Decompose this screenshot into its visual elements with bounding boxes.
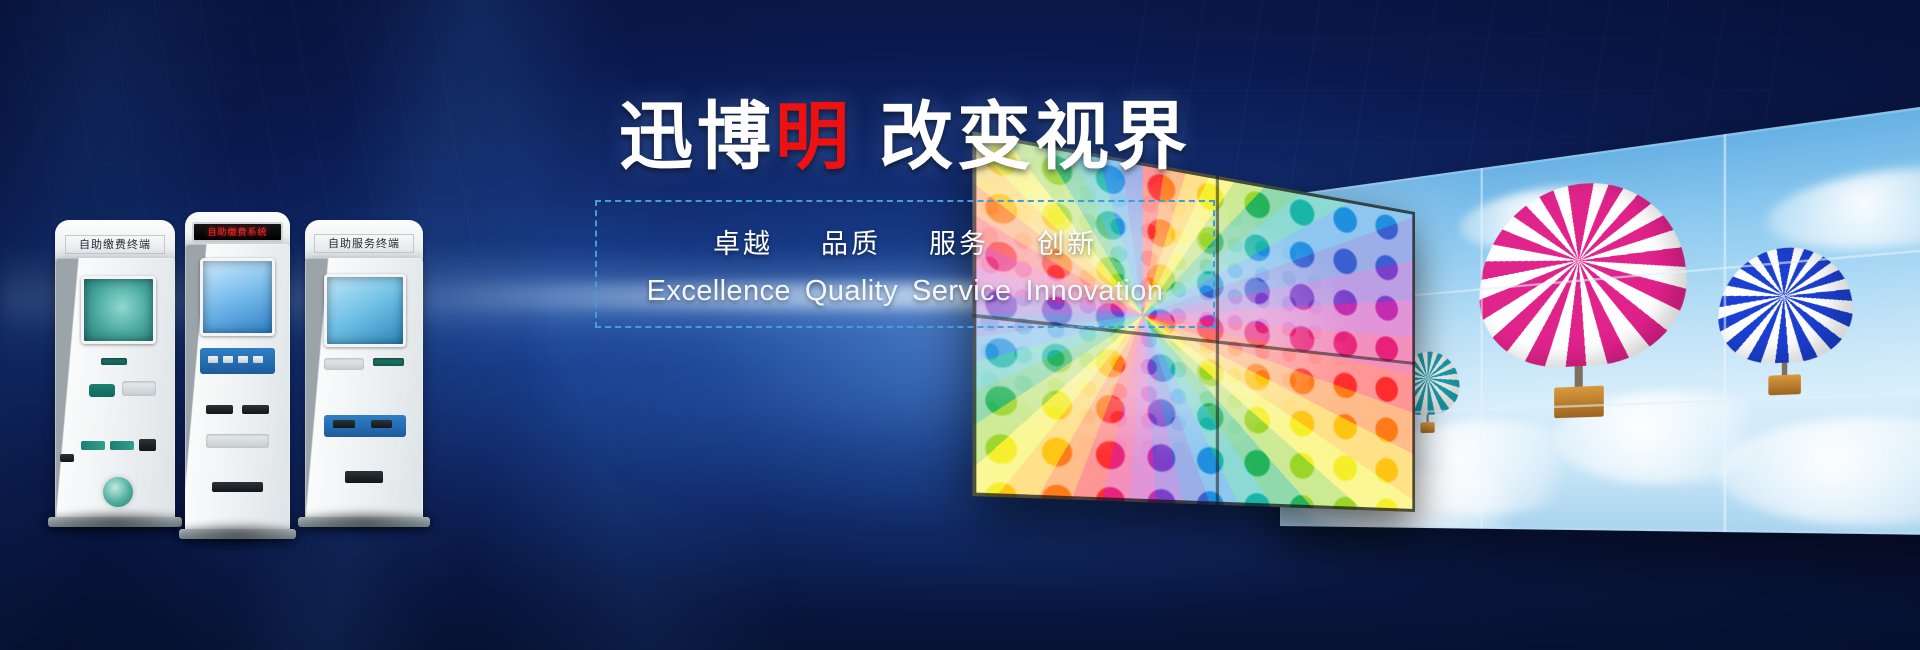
kiosk-2-bill-slot[interactable] — [206, 405, 233, 414]
headline-part-3: 改变视界 — [879, 94, 1191, 180]
kiosk-2-coin-slot[interactable] — [242, 405, 269, 414]
kiosk-2-screen[interactable] — [200, 258, 276, 336]
kiosk-2-button-row[interactable] — [208, 356, 263, 363]
slogan-cn-4: 创新 — [1037, 222, 1097, 261]
kiosk-3-card-slot[interactable] — [373, 358, 404, 366]
kiosk-1-logo — [103, 477, 133, 507]
kiosk-2-lower-vent — [212, 482, 262, 492]
banner-text-block: 迅博明改变视界 卓越 品质 服务 创新 Excellence Quality S… — [595, 100, 1215, 328]
slogan-en-3: Service — [912, 275, 1012, 308]
slogan-en-1: Excellence — [647, 275, 791, 308]
kiosk-3-dispenser[interactable] — [345, 471, 383, 483]
kiosk-1-body — [55, 258, 175, 520]
slogan-en-4: Innovation — [1025, 275, 1163, 308]
kiosk-1-card-slot[interactable] — [101, 358, 127, 365]
kiosk-3-coin-slot[interactable] — [371, 420, 392, 428]
kiosk-1-shadow — [38, 508, 192, 536]
kiosk-2-tray[interactable] — [206, 434, 269, 448]
kiosk-1-bill-slot[interactable] — [139, 439, 156, 451]
kiosk-3-shadow — [288, 508, 439, 536]
kiosk-2-label: 自助缴费系统 — [192, 222, 282, 243]
slogan-cn-3: 服务 — [929, 222, 989, 261]
kiosk-1-stripe-2 — [110, 441, 134, 450]
headline-highlight: 明 — [775, 94, 853, 180]
kiosk-1-nfc-pad[interactable] — [89, 384, 115, 397]
kiosk-3-body — [305, 258, 423, 520]
slogan-en-row: Excellence Quality Service Innovation — [607, 275, 1203, 308]
kiosk-3: 自助服务终端 — [305, 220, 423, 520]
kiosk-1-side-vent — [60, 454, 74, 462]
kiosk-1-stripe-1 — [81, 441, 105, 450]
headline-part-1: 迅博 — [619, 94, 775, 180]
kiosk-2-shadow — [170, 520, 304, 548]
kiosk-3-label: 自助服务终端 — [314, 234, 413, 252]
kiosk-3-bill-slot[interactable] — [333, 420, 354, 428]
kiosk-group: 自助缴费终端 自助缴费系统 — [0, 0, 520, 650]
slogan-box: 卓越 品质 服务 创新 Excellence Quality Service I… — [595, 200, 1215, 328]
kiosk-1-label: 自助缴费终端 — [65, 235, 166, 254]
slogan-cn-row: 卓越 品质 服务 创新 — [607, 222, 1203, 261]
headline: 迅博明改变视界 — [595, 100, 1215, 174]
slogan-cn-1: 卓越 — [713, 222, 773, 261]
kiosk-3-receipt-tray[interactable] — [324, 358, 364, 370]
slogan-en-2: Quality — [805, 275, 898, 308]
kiosk-1-screen[interactable] — [81, 276, 155, 344]
kiosk-1: 自助缴费终端 — [55, 220, 175, 520]
kiosk-2-body — [185, 244, 290, 532]
kiosk-2: 自助缴费系统 — [185, 212, 290, 532]
slogan-cn-2: 品质 — [821, 222, 881, 261]
kiosk-1-receipt-tray[interactable] — [122, 381, 156, 396]
kiosk-3-screen[interactable] — [324, 274, 407, 347]
hero-banner: 自助缴费终端 自助缴费系统 — [0, 0, 1920, 650]
